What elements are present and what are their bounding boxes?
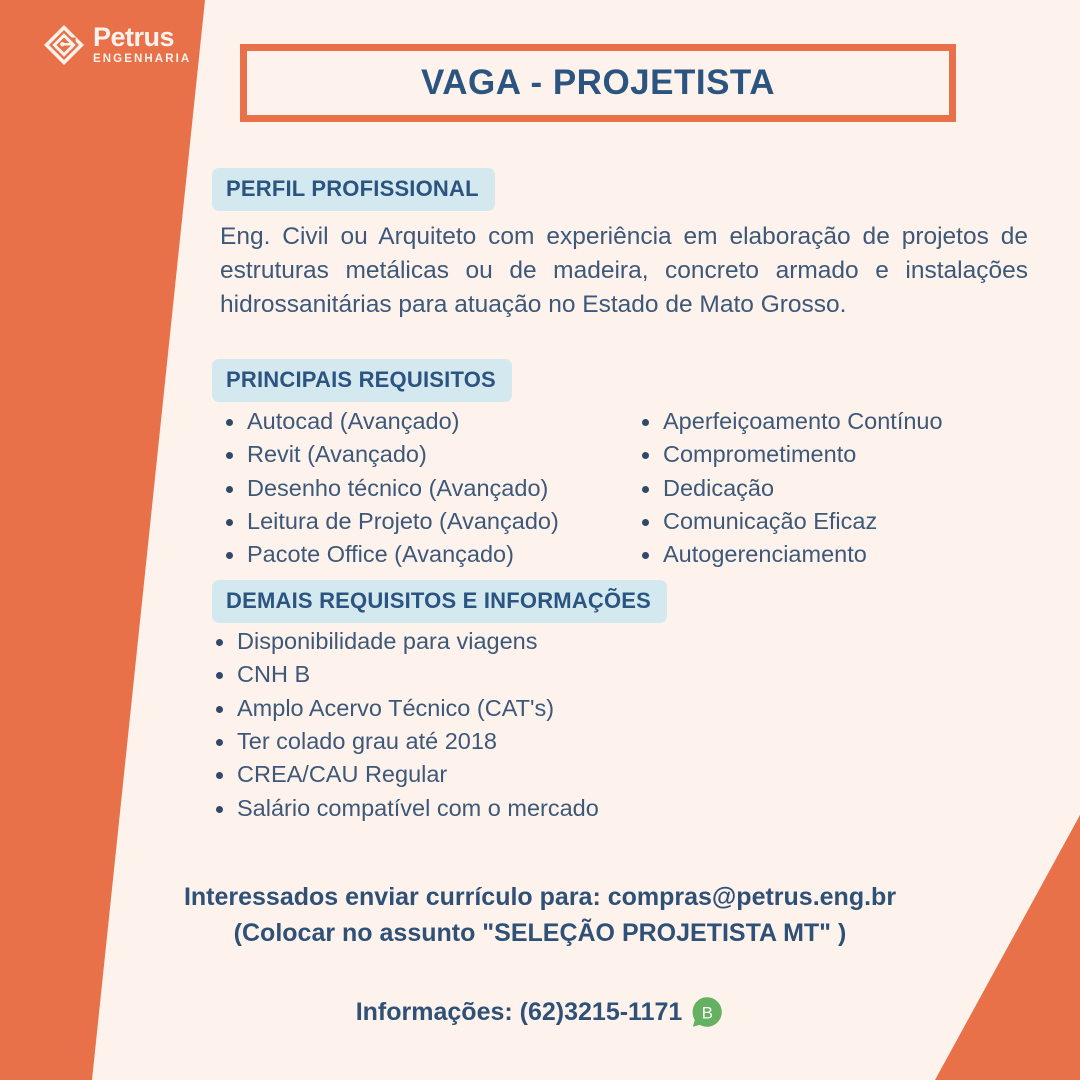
list-item: Desenho técnico (Avançado): [222, 475, 559, 501]
list-item: Comprometimento: [638, 441, 943, 467]
list-item: Disponibilidade para viagens: [212, 628, 599, 654]
diamond-logo-icon: [44, 25, 84, 65]
phone-row: Informações: (62)3215-1171 B: [0, 995, 1080, 1029]
svg-text:B: B: [702, 1003, 713, 1022]
whatsapp-business-icon: B: [690, 995, 724, 1029]
list-item: Dedicação: [638, 475, 943, 501]
application-email-line: Interessados enviar currículo para: comp…: [0, 880, 1080, 916]
email-subject-line: (Colocar no assunto "SELEÇÃO PROJETISTA …: [0, 916, 1080, 952]
list-item: Aperfeiçoamento Contínuo: [638, 408, 943, 434]
section-heading-requisitos: PRINCIPAIS REQUISITOS: [212, 359, 512, 402]
section-heading-demais: DEMAIS REQUISITOS E INFORMAÇÕES: [212, 580, 667, 623]
list-item: Comunicação Eficaz: [638, 508, 943, 534]
list-item: CNH B: [212, 661, 599, 687]
page-title: VAGA - PROJETISTA: [421, 63, 775, 103]
list-item: Autogerenciamento: [638, 541, 943, 567]
demais-requisitos-list: Disponibilidade para viagens CNH B Amplo…: [212, 628, 599, 828]
perfil-paragraph: Eng. Civil ou Arquiteto com experiência …: [220, 220, 1028, 321]
list-item: Leitura de Projeto (Avançado): [222, 508, 559, 534]
list-item: Autocad (Avançado): [222, 408, 559, 434]
list-item: Salário compatível com o mercado: [212, 795, 599, 821]
list-item: Pacote Office (Avançado): [222, 541, 559, 567]
list-item: Ter colado grau até 2018: [212, 728, 599, 754]
list-item: Revit (Avançado): [222, 441, 559, 467]
contact-footer: Interessados enviar currículo para: comp…: [0, 880, 1080, 1029]
requisitos-list-left: Autocad (Avançado) Revit (Avançado) Dese…: [222, 408, 559, 575]
brand-subtitle: ENGENHARIA: [93, 54, 191, 66]
list-item: CREA/CAU Regular: [212, 761, 599, 787]
requisitos-list-right: Aperfeiçoamento Contínuo Comprometimento…: [638, 408, 943, 575]
brand-logo: Petrus ENGENHARIA: [44, 24, 191, 66]
title-banner: VAGA - PROJETISTA: [240, 44, 956, 122]
brand-name: Petrus: [93, 24, 191, 51]
section-heading-perfil: PERFIL PROFISSIONAL: [212, 168, 495, 211]
list-item: Amplo Acervo Técnico (CAT's): [212, 695, 599, 721]
job-posting-poster: Petrus ENGENHARIA VAGA - PROJETISTA PERF…: [0, 0, 1080, 1080]
phone-label: Informações: (62)3215-1171: [356, 998, 683, 1027]
